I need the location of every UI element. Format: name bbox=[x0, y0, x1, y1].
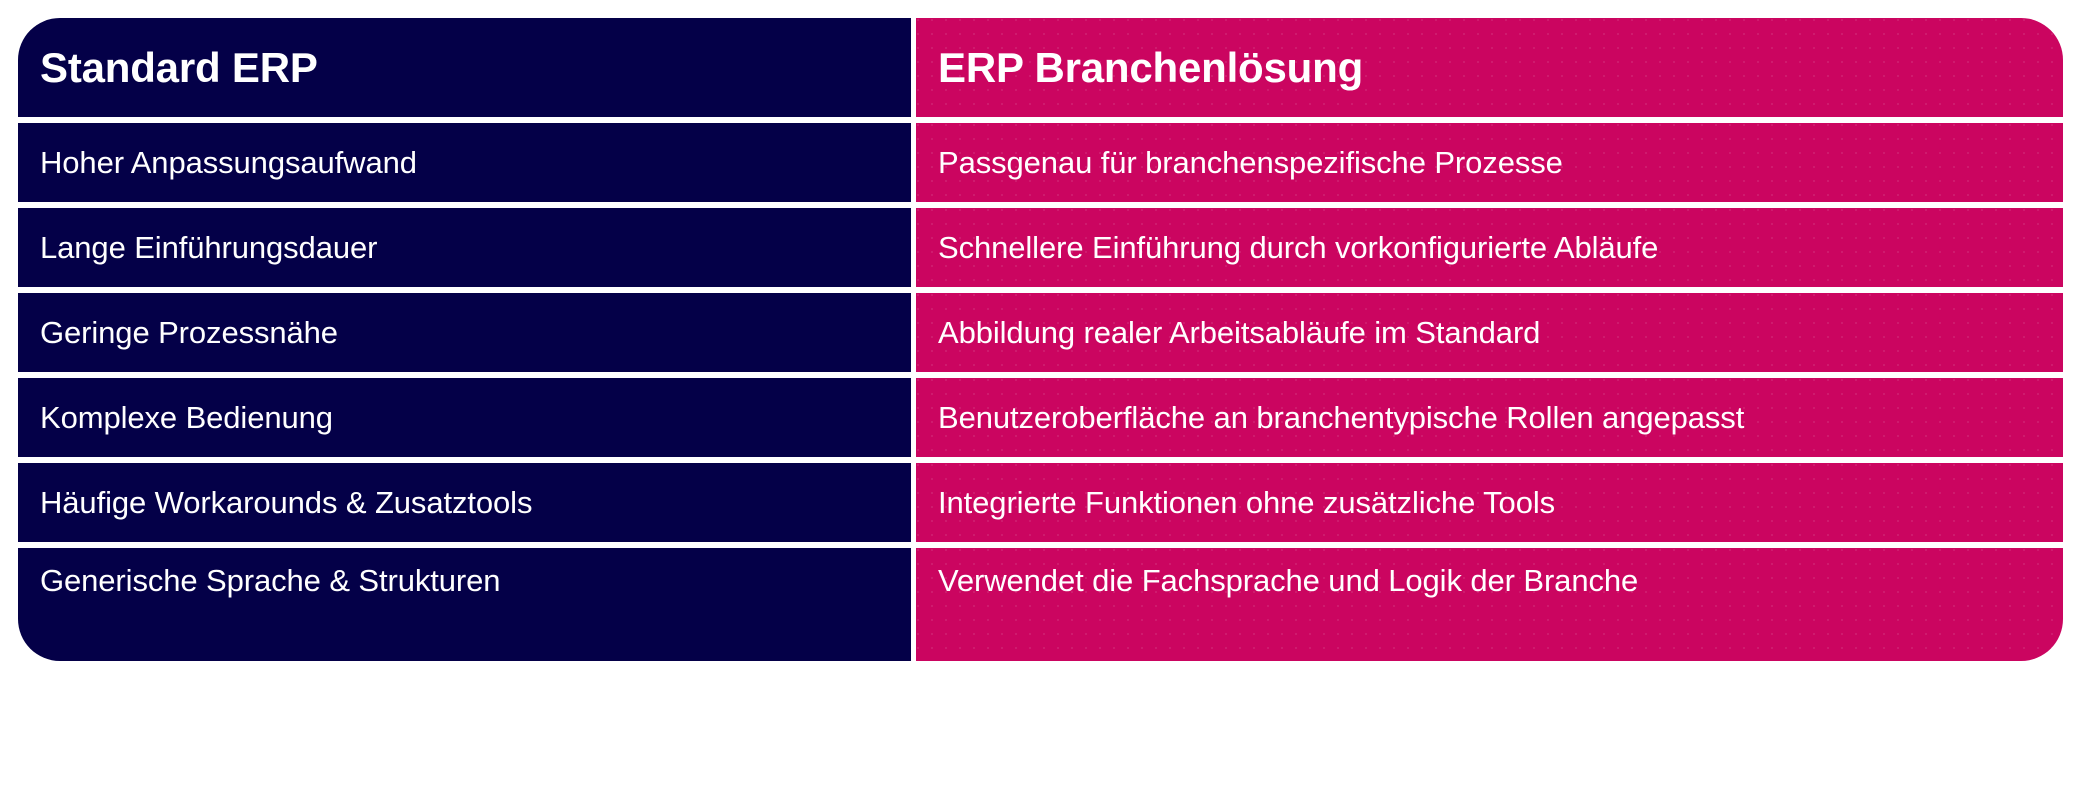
table-row: Verwendet die Fachsprache und Logik der … bbox=[916, 548, 2063, 661]
column-erp-branchenloesung: ERP Branchenlösung Passgenau für branche… bbox=[916, 18, 2063, 792]
column-header-erp-branchenloesung: ERP Branchenlösung bbox=[916, 18, 2063, 117]
table-row: Generische Sprache & Strukturen bbox=[18, 548, 911, 661]
cell-label: Schnellere Einführung durch vorkonfiguri… bbox=[938, 230, 1658, 266]
cell-label: Komplexe Bedienung bbox=[40, 400, 333, 436]
table-row: Komplexe Bedienung bbox=[18, 378, 911, 457]
column-header-label: Standard ERP bbox=[40, 44, 318, 92]
table-row: Häufige Workarounds & Zusatztools bbox=[18, 463, 911, 542]
cell-label: Lange Einführungsdauer bbox=[40, 230, 377, 266]
table-row: Benutzeroberfläche an branchentypische R… bbox=[916, 378, 2063, 457]
cell-label: Häufige Workarounds & Zusatztools bbox=[40, 485, 532, 521]
table-row: Schnellere Einführung durch vorkonfiguri… bbox=[916, 208, 2063, 287]
cell-label: Abbildung realer Arbeitsabläufe im Stand… bbox=[938, 315, 1540, 351]
cell-label: Hoher Anpassungsaufwand bbox=[40, 145, 417, 181]
column-header-label: ERP Branchenlösung bbox=[938, 44, 1363, 92]
cell-label: Benutzeroberfläche an branchentypische R… bbox=[938, 400, 1744, 436]
table-row: Geringe Prozessnähe bbox=[18, 293, 911, 372]
cell-label: Verwendet die Fachsprache und Logik der … bbox=[938, 563, 1638, 599]
table-row: Hoher Anpassungsaufwand bbox=[18, 123, 911, 202]
erp-comparison-table: Standard ERP Hoher Anpassungsaufwand Lan… bbox=[0, 0, 2082, 810]
column-header-standard-erp: Standard ERP bbox=[18, 18, 911, 117]
column-standard-erp: Standard ERP Hoher Anpassungsaufwand Lan… bbox=[18, 18, 911, 792]
cell-label: Generische Sprache & Strukturen bbox=[40, 563, 500, 599]
cell-label: Integrierte Funktionen ohne zusätzliche … bbox=[938, 485, 1555, 521]
table-row: Passgenau für branchenspezifische Prozes… bbox=[916, 123, 2063, 202]
table-row: Integrierte Funktionen ohne zusätzliche … bbox=[916, 463, 2063, 542]
table-row: Lange Einführungsdauer bbox=[18, 208, 911, 287]
table-row: Abbildung realer Arbeitsabläufe im Stand… bbox=[916, 293, 2063, 372]
cell-label: Geringe Prozessnähe bbox=[40, 315, 338, 351]
cell-label: Passgenau für branchenspezifische Prozes… bbox=[938, 145, 1563, 181]
